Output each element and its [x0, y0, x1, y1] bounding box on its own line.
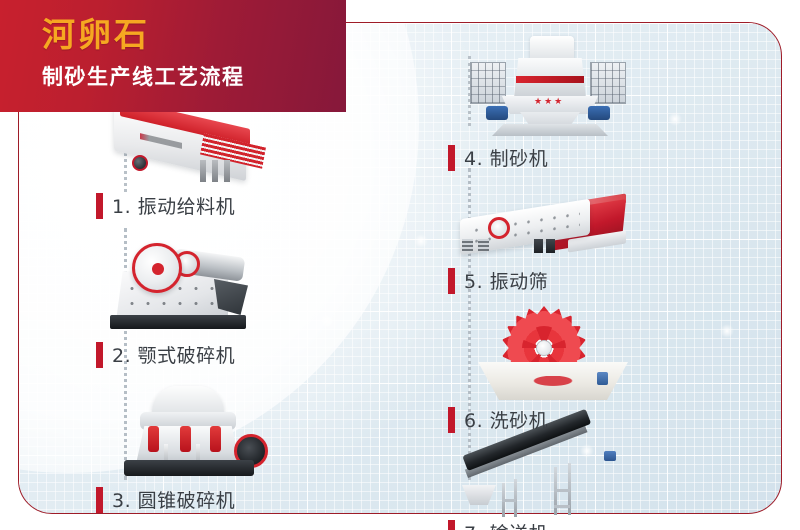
marker-bar: [448, 520, 455, 530]
sand-making-machine-image: ★★★: [448, 36, 698, 144]
flow-step-3-label: 3. 圆锥破碎机: [96, 486, 326, 513]
cone-crusher-image: [96, 384, 326, 486]
cone-crusher-icon: [118, 384, 270, 482]
flow-step-1[interactable]: 1. 振动给料机: [96, 96, 326, 219]
flow-step-1-label: 1. 振动给料机: [96, 192, 326, 219]
flow-step-3-text: 3. 圆锥破碎机: [112, 486, 235, 513]
marker-bar: [96, 342, 103, 368]
jaw-crusher-image: [96, 235, 326, 341]
marker-bar: [448, 407, 455, 433]
vibrating-feeder-icon: [104, 102, 274, 188]
flow-step-7[interactable]: 7. 输送机: [448, 441, 698, 530]
flow-step-4[interactable]: ★★★ 4. 制砂机: [448, 36, 698, 171]
marker-bar: [96, 193, 103, 219]
belt-conveyor-image: [448, 441, 698, 519]
vibrating-screen-icon: [456, 191, 636, 271]
flow-step-6-text: 6. 洗砂机: [464, 406, 548, 433]
flow-step-5-label: 5. 振动筛: [448, 267, 698, 294]
flow-step-4-text: 4. 制砂机: [464, 144, 548, 171]
star-decoration-icon: ★★★: [534, 98, 574, 106]
flow-step-3[interactable]: 3. 圆锥破碎机: [96, 384, 326, 513]
flow-step-1-text: 1. 振动给料机: [112, 192, 235, 219]
right-column: ★★★ 4. 制砂机: [448, 36, 698, 530]
marker-bar: [448, 268, 455, 294]
jaw-crusher-icon: [110, 237, 278, 333]
sparkle-icon: [719, 323, 735, 339]
marker-bar: [448, 145, 455, 171]
flow-step-7-text: 7. 输送机: [464, 519, 548, 530]
sand-washer-image: [448, 306, 698, 406]
flow-step-6-label: 6. 洗砂机: [448, 406, 698, 433]
flow-step-7-label: 7. 输送机: [448, 519, 698, 530]
page-title: 河卵石: [42, 14, 346, 55]
infographic-stage: 1. 振动给料机 2. 颚式破碎机: [0, 0, 800, 530]
flow-step-2-label: 2. 颚式破碎机: [96, 341, 326, 368]
title-banner: 河卵石 制砂生产线工艺流程: [0, 0, 346, 112]
flow-step-4-label: 4. 制砂机: [448, 144, 698, 171]
flow-step-5[interactable]: 5. 振动筛: [448, 185, 698, 294]
flow-step-2[interactable]: 2. 颚式破碎机: [96, 235, 326, 368]
belt-conveyor-icon: [462, 449, 618, 529]
marker-bar: [96, 487, 103, 513]
flow-step-5-text: 5. 振动筛: [464, 267, 548, 294]
left-column: 1. 振动给料机 2. 颚式破碎机: [96, 96, 326, 517]
sand-making-machine-icon: ★★★: [458, 36, 638, 140]
flow-step-2-text: 2. 颚式破碎机: [112, 341, 235, 368]
vibrating-screen-image: [448, 185, 698, 267]
flow-step-6[interactable]: 6. 洗砂机: [448, 306, 698, 433]
sparkle-icon: [413, 233, 429, 249]
page-subtitle: 制砂生产线工艺流程: [42, 61, 346, 91]
sand-washer-icon: [478, 306, 630, 402]
